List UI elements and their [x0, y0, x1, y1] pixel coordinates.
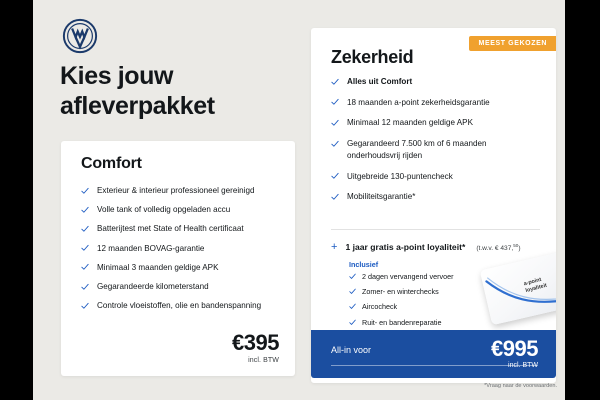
check-icon — [349, 288, 356, 295]
check-icon — [81, 302, 89, 310]
zekerheid-card-title: Zekerheid — [331, 47, 413, 68]
check-icon — [81, 206, 89, 214]
loyalty-value: (t.w.v. € 437,50) — [476, 243, 520, 252]
check-icon — [349, 319, 356, 326]
list-item: Aircocheck — [349, 302, 499, 312]
check-icon — [81, 225, 89, 233]
comfort-price: €395 — [232, 332, 279, 354]
list-item: Gegarandeerde kilometerstand — [81, 281, 281, 293]
list-item-label: 2 dagen vervangend vervoer — [362, 272, 454, 282]
list-item-label: 12 maanden BOVAG-garantie — [97, 243, 204, 255]
check-icon — [349, 273, 356, 280]
loyalty-included-list: 2 dagen vervangend vervoer Zomer- en win… — [349, 272, 499, 333]
list-item-label: Uitgebreide 130-puntencheck — [347, 171, 453, 183]
check-icon — [81, 263, 89, 271]
list-item: Uitgebreide 130-puntencheck — [331, 171, 540, 183]
check-icon — [331, 78, 339, 86]
list-item-label: Batterijtest met State of Health certifi… — [97, 223, 244, 235]
list-item: Exterieur & interieur professioneel gere… — [81, 185, 281, 197]
check-icon — [81, 187, 89, 195]
list-item: Mobiliteitsgarantie* — [331, 191, 540, 203]
list-item: Zomer- en winterchecks — [349, 287, 499, 297]
list-item-label: Minimaal 3 maanden geldige APK — [97, 262, 218, 274]
list-item-label: Zomer- en winterchecks — [362, 287, 439, 297]
zekerheid-price: €995 — [491, 338, 538, 360]
list-item: 2 dagen vervangend vervoer — [349, 272, 499, 282]
list-item-label: Volle tank of volledig opgeladen accu — [97, 204, 230, 216]
list-item-label: 18 maanden a-point zekerheidsgarantie — [347, 97, 490, 109]
zekerheid-price-block: €995 incl. BTW — [491, 338, 538, 369]
loyalty-card-label: a-point loyaliteit — [523, 276, 548, 295]
check-icon — [81, 244, 89, 252]
allin-label: All-in voor — [331, 345, 371, 355]
plus-icon: + — [331, 242, 337, 253]
status-badge: MEEST GEKOZEN — [469, 36, 556, 51]
comfort-price-block: €395 incl. BTW — [232, 332, 279, 364]
list-item: Minimaal 12 maanden geldige APK — [331, 117, 540, 129]
comfort-feature-list: Exterieur & interieur professioneel gere… — [81, 185, 281, 320]
check-icon — [331, 98, 339, 106]
check-icon — [81, 283, 89, 291]
list-item: Controle vloeistoffen, olie en bandenspa… — [81, 300, 281, 312]
check-icon — [331, 119, 339, 127]
loyalty-headline: 1 jaar gratis a-point loyaliteit* — [345, 242, 465, 252]
zekerheid-feature-list: Alles uit Comfort 18 maanden a-point zek… — [331, 76, 540, 212]
list-item-label: Ruit- en bandenreparatie — [362, 318, 442, 328]
list-item-label: Controle vloeistoffen, olie en bandenspa… — [97, 300, 261, 312]
check-icon — [349, 303, 356, 310]
volkswagen-logo-icon — [62, 18, 98, 54]
comfort-package-card[interactable]: Comfort Exterieur & interieur profession… — [61, 141, 295, 376]
list-item-label: Exterieur & interieur professioneel gere… — [97, 185, 254, 197]
list-item-label: Mobiliteitsgarantie* — [347, 191, 415, 203]
promo-canvas: Kies jouw afleverpakket Comfort Exterieu… — [33, 0, 565, 400]
list-item-label: Minimaal 12 maanden geldige APK — [347, 117, 473, 129]
list-item: Alles uit Comfort — [331, 76, 540, 88]
loyalty-offer-row: + 1 jaar gratis a-point loyaliteit* (t.w… — [331, 242, 542, 253]
list-item-label: Alles uit Comfort — [347, 76, 412, 88]
list-item: Ruit- en bandenreparatie — [349, 318, 499, 328]
list-item: Minimaal 3 maanden geldige APK — [81, 262, 281, 274]
list-item: Batterijtest met State of Health certifi… — [81, 223, 281, 235]
page-title: Kies jouw afleverpakket — [60, 62, 290, 121]
allin-price-bar: All-in voor €995 incl. BTW — [311, 330, 556, 378]
list-item: Volle tank of volledig opgeladen accu — [81, 204, 281, 216]
zekerheid-price-note: incl. BTW — [491, 362, 538, 369]
list-item: Gegarandeerd 7.500 km of 6 maanden onder… — [331, 138, 540, 161]
list-item-label: Gegarandeerde kilometerstand — [97, 281, 209, 293]
list-item: 18 maanden a-point zekerheidsgarantie — [331, 97, 540, 109]
section-divider — [331, 229, 540, 230]
included-label: Inclusief — [349, 260, 378, 269]
check-icon — [331, 193, 339, 201]
list-item: 12 maanden BOVAG-garantie — [81, 243, 281, 255]
comfort-card-title: Comfort — [81, 155, 142, 173]
check-icon — [331, 172, 339, 180]
comfort-price-note: incl. BTW — [232, 357, 279, 364]
list-item-label: Aircocheck — [362, 302, 397, 312]
list-item-label: Gegarandeerd 7.500 km of 6 maanden onder… — [347, 138, 540, 161]
check-icon — [331, 140, 339, 148]
footnote-text: *Vraag naar de voorwaarden. — [484, 383, 557, 389]
